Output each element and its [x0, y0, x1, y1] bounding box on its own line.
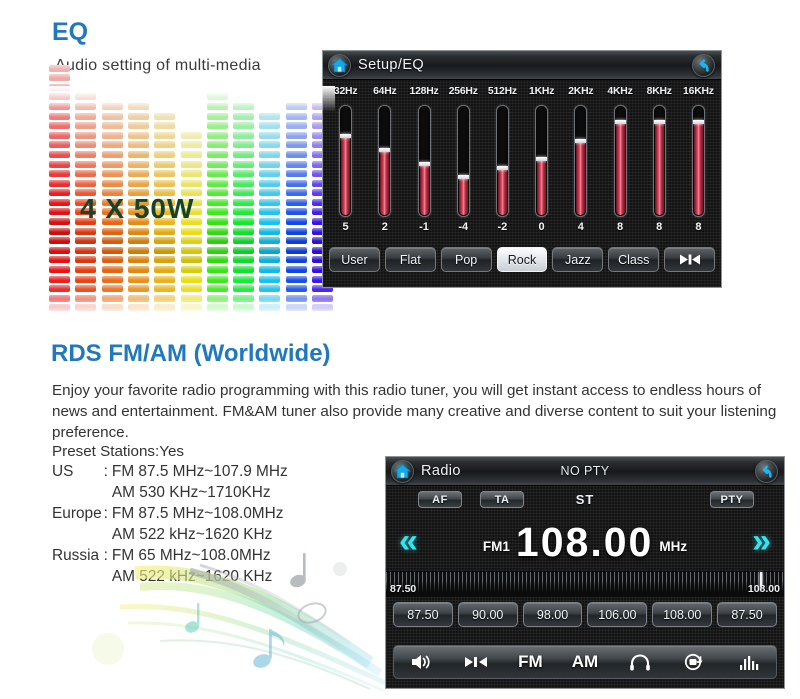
autostore-icon[interactable]: [679, 653, 709, 671]
decorative-bar-segment: [233, 199, 254, 206]
ta-button[interactable]: TA: [480, 491, 524, 508]
eq-section-subtitle: Audio setting of multi-media: [55, 57, 261, 75]
decorative-bar-segment: [49, 218, 70, 225]
decorative-bar-segment: [75, 285, 96, 292]
eq-section-title: EQ: [52, 18, 88, 47]
eq-slider-knob[interactable]: [419, 162, 430, 166]
decorative-bar-segment: [102, 256, 123, 263]
decorative-bar-segment: [75, 161, 96, 168]
decorative-bar-segment: [75, 304, 96, 311]
chevron-double-right-icon[interactable]: »: [752, 524, 771, 558]
eq-slider[interactable]: 8: [640, 105, 679, 242]
back-button[interactable]: [755, 460, 778, 483]
decorative-bar-segment: [49, 122, 70, 129]
decorative-bar-segment: [75, 103, 96, 110]
decorative-bar-segment: [49, 228, 70, 235]
decorative-bar-segment: [286, 285, 307, 292]
decorative-bar-segment: [259, 132, 280, 139]
eq-slider-track[interactable]: [574, 105, 587, 217]
decorative-bar-segment: [154, 170, 175, 177]
decorative-bar-segment: [286, 151, 307, 158]
decorative-bar-segment: [154, 285, 175, 292]
decorative-bar-segment: [233, 266, 254, 273]
decorative-bar-segment: [102, 122, 123, 129]
eq-slider[interactable]: 8: [600, 105, 639, 242]
equalizer-icon[interactable]: [734, 654, 764, 670]
eq-preset-flat-button[interactable]: Flat: [385, 247, 436, 272]
af-button[interactable]: AF: [418, 491, 462, 508]
back-arrow-icon: [693, 54, 714, 77]
eq-preset-pop-button[interactable]: Pop: [441, 247, 492, 272]
decorative-bar-segment: [207, 122, 228, 129]
power-output-label: 4 X 50W: [80, 193, 194, 225]
decorative-bar-segment: [233, 141, 254, 148]
eq-slider[interactable]: -4: [444, 105, 483, 242]
decorative-bar-segment: [128, 304, 149, 311]
region-label: Europe: [52, 503, 104, 524]
decorative-bar-segment: [49, 170, 70, 177]
decorative-bar-segment: [75, 93, 96, 100]
decorative-bar-segment: [259, 256, 280, 263]
decorative-bar-segment: [181, 276, 202, 283]
headphone-icon[interactable]: [625, 654, 655, 671]
eq-slider-knob[interactable]: [575, 139, 586, 143]
eq-slider-knob[interactable]: [340, 134, 351, 138]
decorative-bar-segment: [181, 141, 202, 148]
decorative-bar-segment: [49, 161, 70, 168]
decorative-bar-segment: [49, 65, 70, 72]
eq-slider[interactable]: 8: [679, 105, 718, 242]
decorative-bar-segment: [259, 228, 280, 235]
region-label: US: [52, 461, 104, 482]
table-row: Europe:FM 87.5 MHz~108.0MHz: [52, 503, 288, 524]
decorative-bar-segment: [233, 122, 254, 129]
decorative-bar-segment: [49, 103, 70, 110]
station-presets-row: 87.5090.0098.00106.00108.0087.50: [386, 596, 784, 627]
decorative-bar-segment: [259, 218, 280, 225]
chevron-double-left-icon[interactable]: «: [399, 524, 418, 558]
eq-slider-fill: [341, 137, 350, 215]
decorative-bar-segment: [259, 247, 280, 254]
eq-preset-user-button[interactable]: User: [329, 247, 380, 272]
decorative-bar-segment: [154, 161, 175, 168]
decorative-bar-segment: [207, 113, 228, 120]
decorative-bar-segment: [233, 285, 254, 292]
eq-slider-knob[interactable]: [536, 157, 547, 161]
decorative-bar-segment: [181, 170, 202, 177]
rds-section-title: RDS FM/AM (Worldwide): [51, 340, 331, 368]
decorative-bar-segment: [207, 170, 228, 177]
decorative-bar-segment: [259, 180, 280, 187]
eq-slider-value: -4: [458, 221, 468, 233]
station-preset-button[interactable]: 98.00: [523, 602, 583, 627]
decorative-bar-segment: [75, 122, 96, 129]
station-preset-button[interactable]: 106.00: [587, 602, 647, 627]
decorative-bar-segment: [259, 208, 280, 215]
station-preset-button[interactable]: 87.50: [717, 602, 777, 627]
back-button[interactable]: [692, 54, 715, 77]
eq-preset-rock-button[interactable]: Rock: [497, 247, 548, 272]
decorative-bar-segment: [233, 218, 254, 225]
eq-slider-track[interactable]: [378, 105, 391, 217]
table-row: AM 522 kHz~1620 KHz: [52, 524, 288, 545]
decorative-bar-segment: [49, 276, 70, 283]
decorative-bar-segment: [286, 237, 307, 244]
decorative-bar-segment: [102, 276, 123, 283]
decorative-bar-segment: [181, 180, 202, 187]
decorative-bar-segment: [49, 132, 70, 139]
eq-slider-fill: [459, 178, 468, 215]
decorative-bar-segment: [128, 266, 149, 273]
decorative-bar-segment: [49, 256, 70, 263]
decorative-bar-segment: [259, 122, 280, 129]
decorative-bar-segment: [102, 285, 123, 292]
decorative-bar-segment: [49, 189, 70, 196]
decorative-bar-segment: [49, 113, 70, 120]
decorative-bar-segment: [154, 141, 175, 148]
decorative-bar-segment: [286, 189, 307, 196]
table-row: AM 530 KHz~1710KHz: [52, 482, 288, 503]
decorative-bar-segment: [75, 247, 96, 254]
decorative-bar-segment: [102, 151, 123, 158]
decorative-music-swoosh: [40, 545, 420, 695]
eq-slider-value: 8: [695, 221, 701, 233]
decorative-bar-segment: [128, 228, 149, 235]
eq-slider-fill: [537, 160, 546, 215]
decorative-bar-segment: [207, 304, 228, 311]
decorative-bar-segment: [207, 266, 228, 273]
decorative-bar-segment: [207, 199, 228, 206]
decorative-bar-segment: [75, 276, 96, 283]
decorative-bar-segment: [154, 276, 175, 283]
am-range: AM 522 kHz~1620 KHz: [108, 524, 288, 545]
decorative-bar-segment: [286, 266, 307, 273]
decorative-bar-segment: [181, 228, 202, 235]
decorative-bar-segment: [286, 113, 307, 120]
decorative-bar-segment: [259, 151, 280, 158]
eq-preset-buttons-row: UserFlatPopRockJazzClass: [323, 242, 721, 272]
decorative-bar-segment: [207, 228, 228, 235]
decorative-bar-segment: [233, 151, 254, 158]
decorative-bar-segment: [259, 237, 280, 244]
decorative-bar-segment: [102, 266, 123, 273]
preset-stations-line: Preset Stations:Yes: [52, 443, 184, 460]
eq-slider-track[interactable]: [535, 105, 548, 217]
band-label: FM1: [483, 539, 510, 554]
decorative-bar-segment: [207, 151, 228, 158]
decorative-bar-segment: [154, 266, 175, 273]
decorative-bar-segment: [154, 247, 175, 254]
eq-slider-knob[interactable]: [497, 166, 508, 170]
decorative-bar-segment: [286, 199, 307, 206]
eq-slider-track[interactable]: [496, 105, 509, 217]
decorative-bar-column: [49, 65, 70, 314]
eq-band-label: 2KHz: [561, 86, 600, 97]
eq-preset-jazz-button[interactable]: Jazz: [552, 247, 603, 272]
decorative-bar-segment: [286, 276, 307, 283]
eq-slider-value: 8: [617, 221, 623, 233]
eq-slider[interactable]: 4: [561, 105, 600, 242]
decorative-bar-segment: [259, 113, 280, 120]
decorative-bar-segment: [286, 295, 307, 302]
decorative-bar-segment: [286, 170, 307, 177]
eq-slider-track[interactable]: [614, 105, 627, 217]
decorative-bar-segment: [233, 276, 254, 283]
decorative-bar-segment: [181, 304, 202, 311]
decorative-bar-segment: [259, 285, 280, 292]
decorative-bar-segment: [207, 208, 228, 215]
decorative-bar-segment: [207, 103, 228, 110]
eq-band-label: 16KHz: [679, 86, 718, 97]
frequency-unit: MHz: [659, 539, 687, 554]
decorative-bar-segment: [75, 180, 96, 187]
decorative-bar-segment: [207, 256, 228, 263]
eq-slider-knob[interactable]: [693, 120, 704, 124]
eq-band-label: 32Hz: [326, 86, 365, 97]
eq-slider-fill: [655, 123, 664, 215]
decorative-bar-segment: [102, 103, 123, 110]
decorative-bar-segment: [75, 170, 96, 177]
decorative-bar-segment: [207, 93, 228, 100]
decorative-bar-segment: [286, 304, 307, 311]
decorative-bar-segment: [128, 132, 149, 139]
eq-slider[interactable]: 5: [326, 105, 365, 242]
decorative-bar-segment: [181, 132, 202, 139]
eq-panel-title: Setup/EQ: [358, 57, 424, 73]
decorative-bar-segment: [207, 132, 228, 139]
eq-slider-track[interactable]: [692, 105, 705, 217]
decorative-bar-segment: [49, 74, 70, 81]
decorative-bar-segment: [286, 256, 307, 263]
eq-slider[interactable]: 0: [522, 105, 561, 242]
eq-slider-value: 8: [656, 221, 662, 233]
eq-slider-track[interactable]: [339, 105, 352, 217]
eq-band-labels-row: 32Hz64Hz128Hz256Hz512Hz1KHz2KHz4KHz8KHz1…: [323, 80, 721, 102]
scale-min-label: 87.50: [390, 583, 416, 595]
home-button[interactable]: [391, 460, 414, 483]
decorative-bar-segment: [207, 295, 228, 302]
decorative-bar-segment: [49, 199, 70, 206]
decorative-bar-segment: [102, 141, 123, 148]
pty-button[interactable]: PTY: [710, 491, 754, 508]
decorative-bar-segment: [102, 170, 123, 177]
decorative-bar-segment: [154, 228, 175, 235]
decorative-bar-segment: [233, 132, 254, 139]
decorative-bar-segment: [75, 295, 96, 302]
eq-band-label: 8KHz: [640, 86, 679, 97]
decorative-bar-segment: [181, 247, 202, 254]
eq-slider-value: 4: [578, 221, 584, 233]
station-preset-button[interactable]: 87.50: [393, 602, 453, 627]
frequency-value: 108.00: [516, 521, 653, 563]
decorative-bar-segment: [128, 237, 149, 244]
decorative-bar-segment: [128, 151, 149, 158]
decorative-bar-segment: [207, 141, 228, 148]
decorative-bar-segment: [75, 113, 96, 120]
decorative-bar-segment: [128, 103, 149, 110]
decorative-bar-segment: [286, 228, 307, 235]
decorative-bar-segment: [102, 304, 123, 311]
decorative-bar-segment: [259, 266, 280, 273]
radio-titlebar: Radio NO PTY: [386, 457, 784, 486]
eq-slider-knob[interactable]: [654, 120, 665, 124]
fm-range: FM 87.5 MHz~107.9 MHz: [108, 461, 288, 482]
decorative-bar-column: [233, 103, 254, 314]
decorative-bar-segment: [233, 304, 254, 311]
decorative-bar-segment: [286, 103, 307, 110]
table-row: US:FM 87.5 MHz~107.9 MHz: [52, 461, 288, 482]
decorative-bar-segment: [233, 237, 254, 244]
decorative-bar-segment: [181, 161, 202, 168]
decorative-bar-segment: [49, 151, 70, 158]
eq-band-label: 1KHz: [522, 86, 561, 97]
decorative-bar-segment: [102, 228, 123, 235]
eq-band-label: 4KHz: [600, 86, 639, 97]
radio-rds-controls-row: AF TA ST PTY: [386, 486, 784, 513]
decorative-bar-segment: [181, 237, 202, 244]
decorative-bar-segment: [128, 113, 149, 120]
eq-slider-track[interactable]: [653, 105, 666, 217]
decorative-bar-segment: [49, 84, 70, 91]
decorative-bar-segment: [154, 151, 175, 158]
fm-range: FM 87.5 MHz~108.0MHz: [108, 503, 288, 524]
decorative-bar-segment: [207, 237, 228, 244]
radio-screen-panel: Radio NO PTY AF TA ST PTY « FM1 108.00 M…: [385, 456, 785, 689]
eq-slider[interactable]: 2: [365, 105, 404, 242]
decorative-bar-segment: [102, 132, 123, 139]
eq-slider[interactable]: -2: [483, 105, 522, 242]
home-icon: [392, 460, 413, 483]
decorative-bar-segment: [49, 208, 70, 215]
decorative-bar-segment: [75, 266, 96, 273]
decorative-bar-segment: [128, 285, 149, 292]
decorative-bar-segment: [154, 304, 175, 311]
decorative-bar-segment: [259, 199, 280, 206]
am-button[interactable]: AM: [570, 652, 600, 672]
decorative-bar-segment: [49, 304, 70, 311]
decorative-bar-segment: [207, 161, 228, 168]
home-button[interactable]: [328, 54, 351, 77]
decorative-bar-segment: [49, 266, 70, 273]
scan-icon[interactable]: [461, 656, 491, 668]
decorative-bar-segment: [102, 161, 123, 168]
eq-band-label: 256Hz: [444, 86, 483, 97]
decorative-bar-segment: [207, 276, 228, 283]
fm-button[interactable]: FM: [515, 652, 545, 672]
decorative-bar-segment: [75, 141, 96, 148]
eq-slider-value: -1: [419, 221, 429, 233]
decorative-bar-segment: [154, 295, 175, 302]
decorative-bar-segment: [259, 189, 280, 196]
eq-slider-fill: [694, 123, 703, 215]
decorative-bar-segment: [259, 161, 280, 168]
volume-icon[interactable]: [406, 653, 436, 671]
eq-titlebar: Setup/EQ: [323, 51, 721, 80]
decorative-bar-segment: [233, 180, 254, 187]
decorative-bar-segment: [49, 180, 70, 187]
decorative-bar-segment: [102, 247, 123, 254]
eq-slider-track[interactable]: [418, 105, 431, 217]
decorative-bar-segment: [286, 141, 307, 148]
decorative-bar-segment: [75, 151, 96, 158]
eq-slider-knob[interactable]: [458, 175, 469, 179]
decorative-bar-segment: [312, 304, 333, 311]
eq-slider-value: -2: [498, 221, 508, 233]
eq-slider-fill: [420, 165, 429, 215]
decorative-bar-segment: [75, 256, 96, 263]
region-separator: :: [104, 503, 108, 524]
decorative-bar-column: [286, 103, 307, 314]
decorative-bar-segment: [49, 141, 70, 148]
decorative-bar-segment: [207, 180, 228, 187]
eq-preset-class-button[interactable]: Class: [608, 247, 659, 272]
decorative-bar-column: [259, 113, 280, 314]
decorative-bar-segment: [49, 247, 70, 254]
decorative-bar-segment: [286, 161, 307, 168]
decorative-bar-segment: [154, 180, 175, 187]
station-preset-button[interactable]: 108.00: [652, 602, 712, 627]
decorative-bar-segment: [233, 208, 254, 215]
pty-status-label: NO PTY: [506, 464, 664, 478]
back-arrow-icon: [756, 460, 777, 483]
decorative-bar-segment: [259, 170, 280, 177]
decorative-bar-segment: [181, 266, 202, 273]
decorative-bar-segment: [49, 237, 70, 244]
decorative-bar-segment: [233, 103, 254, 110]
eq-slider[interactable]: -1: [404, 105, 443, 242]
decorative-bar-segment: [102, 113, 123, 120]
decorative-bar-segment: [207, 189, 228, 196]
decorative-bar-segment: [286, 132, 307, 139]
decorative-bar-segment: [128, 180, 149, 187]
decorative-bar-segment: [259, 304, 280, 311]
decorative-bar-segment: [128, 122, 149, 129]
decorative-bar-column: [207, 93, 228, 314]
eq-slider-knob[interactable]: [615, 120, 626, 124]
decorative-bar-segment: [154, 122, 175, 129]
decorative-bar-segment: [154, 256, 175, 263]
skip-track-icon[interactable]: [664, 247, 715, 272]
decorative-bar-segment: [286, 208, 307, 215]
decorative-bar-segment: [128, 256, 149, 263]
rds-description-paragraph: Enjoy your favorite radio programming wi…: [52, 380, 782, 443]
decorative-bar-segment: [102, 295, 123, 302]
decorative-bar-segment: [128, 276, 149, 283]
eq-slider-knob[interactable]: [379, 148, 390, 152]
decorative-bar-segment: [233, 256, 254, 263]
tuning-scale[interactable]: 87.50 108.00: [386, 571, 784, 596]
decorative-bar-segment: [102, 180, 123, 187]
decorative-bar-segment: [49, 93, 70, 100]
decorative-bar-segment: [286, 122, 307, 129]
decorative-bar-segment: [233, 247, 254, 254]
eq-slider-fill: [498, 169, 507, 215]
scale-max-label: 108.00: [748, 583, 780, 595]
decorative-bar-segment: [286, 247, 307, 254]
decorative-bar-segment: [181, 151, 202, 158]
decorative-bar-segment: [128, 247, 149, 254]
decorative-bar-segment: [207, 218, 228, 225]
am-range: AM 530 KHz~1710KHz: [108, 482, 288, 503]
station-preset-button[interactable]: 90.00: [458, 602, 518, 627]
decorative-bar-segment: [128, 141, 149, 148]
eq-slider-track[interactable]: [457, 105, 470, 217]
decorative-bar-segment: [233, 170, 254, 177]
decorative-bar-segment: [75, 132, 96, 139]
decorative-bar-segment: [233, 113, 254, 120]
decorative-bar-segment: [233, 189, 254, 196]
eq-band-label: 512Hz: [483, 86, 522, 97]
